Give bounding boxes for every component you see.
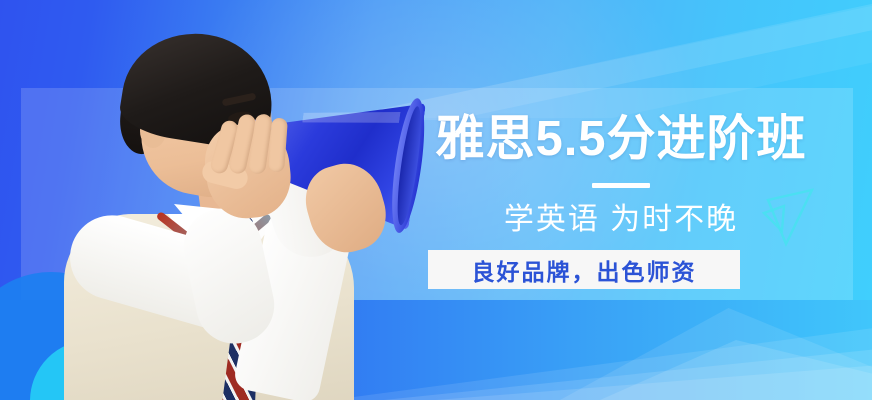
subheadline: 学英语 为时不晚 <box>406 200 836 240</box>
promo-banner: 雅思5.5分进阶班 学英语 为时不晚 良好品牌，出色师资 <box>0 0 872 400</box>
headline: 雅思5.5分进阶班 <box>406 109 836 169</box>
horizontal-rule <box>592 183 650 188</box>
tagline-box: 良好品牌，出色师资 <box>428 250 740 289</box>
banner-content: 雅思5.5分进阶班 学英语 为时不晚 良好品牌，出色师资 <box>406 0 872 400</box>
tagline-text: 良好品牌，出色师资 <box>472 253 697 287</box>
